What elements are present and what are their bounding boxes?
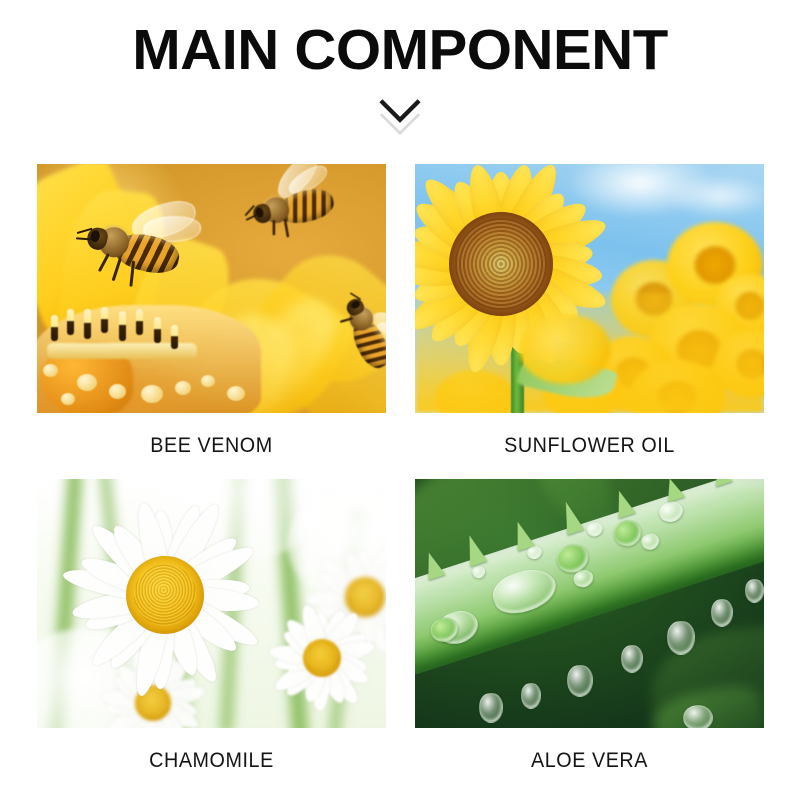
daisy-illustration [63, 497, 267, 693]
component-image-sunflower-oil [415, 164, 764, 413]
page-title: MAIN COMPONENT [0, 22, 800, 79]
component-label-aloe-vera: ALOE VERA [425, 728, 753, 794]
page-header: MAIN COMPONENT [0, 0, 800, 137]
daisy-illustration [255, 601, 386, 715]
component-label-chamomile: CHAMOMILE [47, 728, 375, 794]
double-chevron-down-icon [0, 95, 800, 137]
component-cell-bee-venom[interactable]: BEE VENOM [37, 164, 386, 479]
product-infographic-page: MAIN COMPONENT [0, 0, 800, 800]
component-cell-sunflower-oil[interactable]: SUNFLOWER OIL [415, 164, 764, 479]
component-cell-aloe-vera[interactable]: ALOE VERA [415, 479, 764, 794]
component-image-bee-venom [37, 164, 386, 413]
component-image-aloe-vera [415, 479, 764, 728]
component-label-bee-venom: BEE VENOM [47, 413, 375, 479]
component-image-chamomile [37, 479, 386, 728]
component-grid: BEE VENOM [37, 164, 764, 794]
component-cell-chamomile[interactable]: CHAMOMILE [37, 479, 386, 794]
component-label-sunflower-oil: SUNFLOWER OIL [425, 413, 753, 479]
